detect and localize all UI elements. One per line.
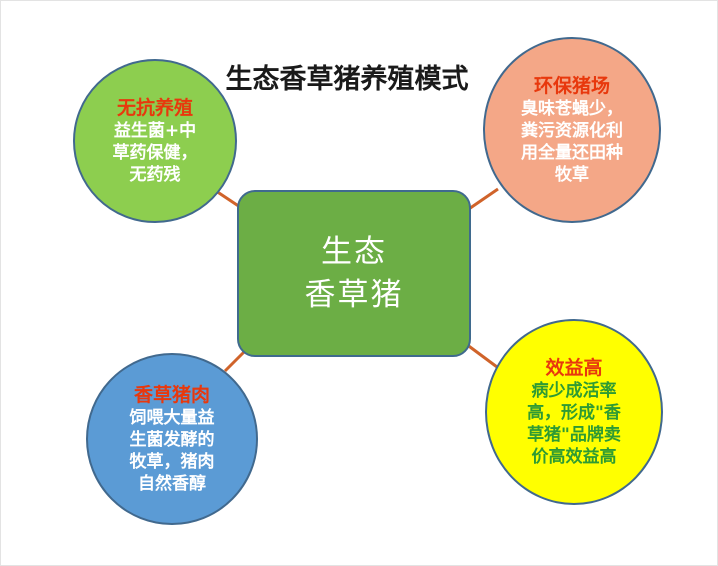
node-eco-farm[interactable]: 环保猪场 臭味苍蝇少， 粪污资源化利 用全量还田种 牧草 [483, 37, 661, 223]
node-eco-farm-body: 臭味苍蝇少， 粪污资源化利 用全量还田种 牧草 [521, 98, 623, 186]
node-high-benefit-body: 病少成活率 高，形成"香 草猪"品牌卖 价高效益高 [527, 380, 621, 468]
node-eco-farm-title: 环保猪场 [534, 74, 610, 98]
diagram-title: 生态香草猪养殖模式 [197, 63, 497, 97]
node-herbal-pork-body: 饲喂大量益 生菌发酵的 牧草，猪肉 自然香醇 [130, 407, 215, 495]
node-herbal-pork[interactable]: 香草猪肉 饲喂大量益 生菌发酵的 牧草，猪肉 自然香醇 [86, 353, 258, 525]
center-node-label: 生态 香草猪 [305, 231, 404, 317]
node-high-benefit[interactable]: 效益高 病少成活率 高，形成"香 草猪"品牌卖 价高效益高 [485, 319, 663, 505]
node-antibiotic-free-title: 无抗养殖 [117, 96, 193, 120]
node-antibiotic-free-body: 益生菌+中 草药保健， 无药残 [113, 120, 198, 186]
node-herbal-pork-title: 香草猪肉 [134, 383, 210, 407]
node-high-benefit-title: 效益高 [545, 356, 602, 380]
diagram-canvas: 生态香草猪养殖模式 生态 香草猪 无抗养殖 益生菌+中 草药保健， 无药残 环保… [0, 0, 718, 566]
center-node[interactable]: 生态 香草猪 [237, 190, 471, 357]
